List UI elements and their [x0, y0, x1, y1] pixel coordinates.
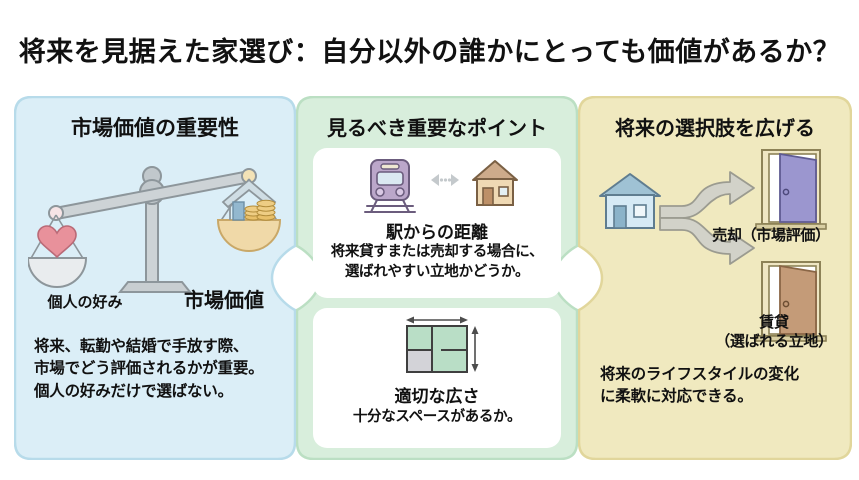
panel-market-content: 市場価値の重要性 [14, 96, 296, 460]
page-title: 将来を見据えた家選び：自分以外の誰かにとっても価値があるか？ [0, 30, 859, 69]
station-distance-icons [313, 154, 561, 216]
options-body-line-2: に柔軟に対応できる。 [600, 386, 846, 408]
panel-market-value: 市場価値の重要性 [14, 96, 296, 460]
card-station-title: 駅からの距離 [313, 218, 561, 243]
panel-future-options-heading: 将来の選択肢を広げる [578, 112, 852, 141]
options-body-line-1: 将来のライフスタイルの変化 [600, 364, 846, 386]
panel-future-options-body: 将来のライフスタイルの変化 に柔軟に対応できる。 [600, 364, 846, 409]
market-body-line-2: 市場でどう評価されるかが重要。 [34, 358, 282, 380]
label-option-sell: 売却（市場評価） [696, 224, 846, 245]
label-option-rent-line-2: （選ばれる立地） [714, 333, 834, 352]
width-arrow-icon [406, 317, 468, 324]
panel-key-points: 見るべき重要なポイント [296, 96, 578, 460]
card-station-desc: 将来貸すまたは売却する場合に、 選ばれやすい立地かどうか。 [313, 243, 561, 282]
panel-market-heading: 市場価値の重要性 [14, 112, 296, 142]
house-icon [473, 161, 517, 205]
coin-stack-icon [245, 200, 275, 220]
train-icon [365, 160, 415, 212]
balance-scale-illustration [28, 144, 282, 294]
panel-future-options-content: 将来の選択肢を広げる [578, 96, 852, 460]
source-house-icon [600, 174, 660, 228]
card-station-desc-line-2: 選ばれやすい立地かどうか。 [313, 263, 561, 283]
door-purple-icon [756, 150, 826, 229]
height-arrow-icon [472, 326, 479, 372]
floor-plan-icon [407, 326, 467, 372]
market-body-line-1: 将来、転勤や結婚で手放す際、 [34, 336, 282, 358]
branch-arrows-icon [660, 172, 754, 264]
scale-left-pan-icon [28, 215, 86, 287]
card-adequate-space: 適切な広さ 十分なスペースがあるか。 [313, 308, 561, 448]
dotted-double-arrow-icon [431, 174, 459, 186]
panel-key-points-content: 見るべき重要なポイント [296, 96, 578, 460]
panel-market-body: 将来、転勤や結婚で手放す際、 市場でどう評価されるかが重要。 個人の好みだけで選… [34, 336, 282, 403]
card-space-desc-line-1: 十分なスペースがあるか。 [313, 408, 561, 428]
label-option-sell-line-1: 売却（市場評価） [696, 224, 846, 245]
panels-container: 市場価値の重要性 [0, 96, 859, 466]
panel-future-options: 将来の選択肢を広げる [578, 96, 852, 460]
card-station-distance: 駅からの距離 将来貸すまたは売却する場合に、 選ばれやすい立地かどうか。 [313, 148, 561, 298]
label-personal-taste: 個人の好み [30, 291, 140, 312]
card-space-desc: 十分なスペースがあるか。 [313, 408, 561, 428]
heart-icon [38, 226, 76, 257]
card-space-title: 適切な広さ [313, 382, 561, 407]
card-station-desc-line-1: 将来貸すまたは売却する場合に、 [313, 243, 561, 263]
adequate-space-icons [313, 312, 561, 376]
door-icon [233, 202, 244, 220]
label-market-value: 市場価値 [164, 284, 284, 313]
label-option-rent-line-1: 賃貸 [714, 314, 834, 333]
market-body-line-3: 個人の好みだけで選ばない。 [34, 381, 282, 403]
label-option-rent: 賃貸 （選ばれる立地） [714, 314, 834, 352]
panel-key-points-heading: 見るべき重要なポイント [296, 112, 578, 141]
scale-right-pan-icon [218, 179, 280, 251]
